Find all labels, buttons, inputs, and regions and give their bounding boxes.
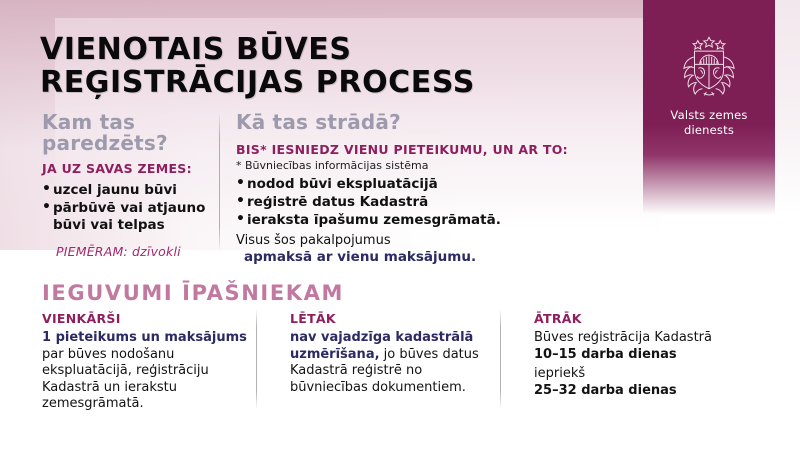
benefit-card-faster: ĀTRĀK Būves reģistrācija Kadastrā 10–15 … (534, 311, 764, 399)
list-item: reģistrē datus Kadastrā (236, 194, 636, 211)
benefit-body: 1 pieteikums un maksājums par būves nodo… (42, 330, 247, 413)
benefit-line-previous: iepriekš (534, 366, 764, 383)
benefits-title: IEGUVUMI ĪPAŠNIEKAM (42, 281, 344, 305)
section-how-it-works: Kā tas strādā? BIS* IESNIEDZ VIENU PIETE… (236, 112, 636, 266)
list-item: nodod būvi ekspluatācijā (236, 176, 636, 193)
section-who-kicker: JA UZ SAVAS ZEMES: (42, 161, 212, 176)
benefit-rest: par būves nodošanu ekspluatācijā, reģist… (42, 347, 209, 412)
section-how-kicker: BIS* IESNIEDZ VIENU PIETEIKUMU, UN AR TO… (236, 142, 636, 157)
upper-column-divider (219, 112, 220, 252)
benefit-line-current: Būves reģistrācija Kadastrā (534, 330, 764, 347)
list-item: uzcel jaunu būvi (42, 182, 212, 199)
brand-name-line1: Valsts zemes (670, 108, 747, 122)
benefits-divider-2 (500, 309, 501, 409)
section-who-example: PIEMĒRAM: dzīvokli (56, 244, 212, 259)
benefit-card-simpler: VIENKĀRŠI 1 pieteikums un maksājums par … (42, 311, 247, 413)
brand-panel: Valsts zemes dienests (643, 0, 775, 215)
benefit-card-cheaper: LĒTĀK nav vajadzīga kadastrālā uzmērīšan… (290, 311, 490, 396)
benefit-body: nav vajadzīga kadastrālā uzmērīšana, jo … (290, 330, 490, 396)
section-how-closing-plain: Visus šos pakalpojumus (236, 232, 636, 249)
benefit-duration-new: 10–15 darba dienas (534, 347, 764, 364)
brand-name: Valsts zemes dienests (643, 108, 775, 138)
benefit-duration-old: 25–32 darba dienas (534, 383, 764, 400)
how-bullet-list: nodod būvi ekspluatācijā reģistrē datus … (236, 176, 636, 229)
benefit-heading: LĒTĀK (290, 311, 490, 326)
section-how-footnote: * Būvniecības informācijas sistēma (236, 159, 636, 172)
benefits-divider-1 (256, 309, 257, 409)
infographic-poster: Valsts zemes dienests VIENOTAIS BŪVES RE… (0, 0, 800, 450)
section-who-heading-line2: paredzēts? (42, 131, 168, 155)
section-how-closing-bold: apmaksā ar vienu maksājumu. (244, 249, 636, 266)
page-title-line2: REĢISTRĀCIJAS PROCESS (40, 66, 640, 99)
page-title-line1: VIENOTAIS BŪVES (40, 33, 640, 66)
section-who-is-it-for: Kam tas paredzēts? JA UZ SAVAS ZEMES: uz… (42, 112, 212, 259)
brand-panel-edge (775, 0, 800, 215)
who-bullet-list: uzcel jaunu būvi pārbūvē vai atjauno būv… (42, 182, 212, 234)
section-how-heading: Kā tas strādā? (236, 112, 636, 133)
list-item: ieraksta īpašumu zemesgrāmatā. (236, 212, 636, 229)
section-who-heading: Kam tas paredzēts? (42, 112, 212, 154)
latvia-coat-of-arms-icon (676, 32, 742, 98)
benefit-lead: 1 pieteikums un maksājums (42, 330, 247, 345)
page-title: VIENOTAIS BŪVES REĢISTRĀCIJAS PROCESS (40, 33, 640, 99)
benefit-heading: VIENKĀRŠI (42, 311, 247, 326)
benefit-heading: ĀTRĀK (534, 311, 764, 326)
brand-name-line2: dienests (684, 123, 734, 137)
list-item: pārbūvē vai atjauno būvi vai telpas (42, 200, 212, 234)
